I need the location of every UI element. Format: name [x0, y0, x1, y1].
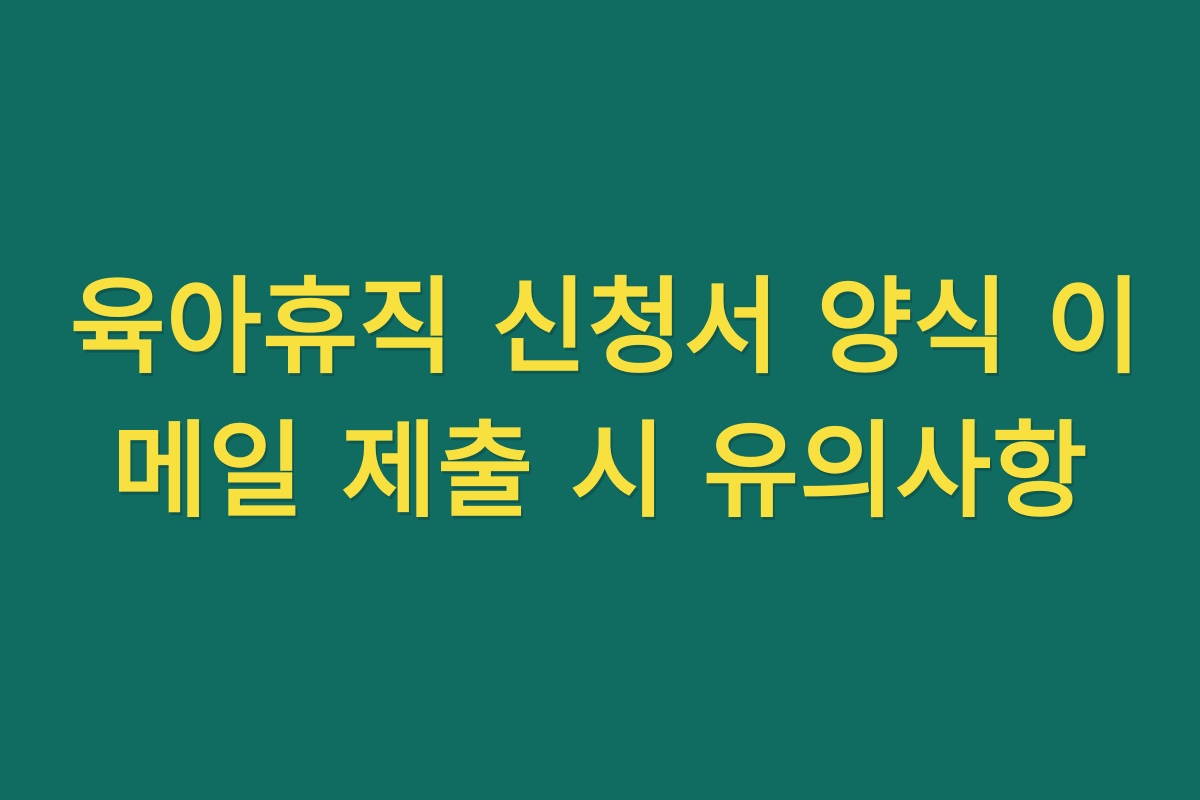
- page-title-line-2: 메일 제출 시 유의사항: [70, 400, 1130, 544]
- page-title: 육아휴직 신청서 양식 이 메일 제출 시 유의사항: [70, 256, 1130, 543]
- title-banner: 육아휴직 신청서 양식 이 메일 제출 시 유의사항: [0, 0, 1200, 800]
- page-title-line-1: 육아휴직 신청서 양식 이: [70, 256, 1130, 400]
